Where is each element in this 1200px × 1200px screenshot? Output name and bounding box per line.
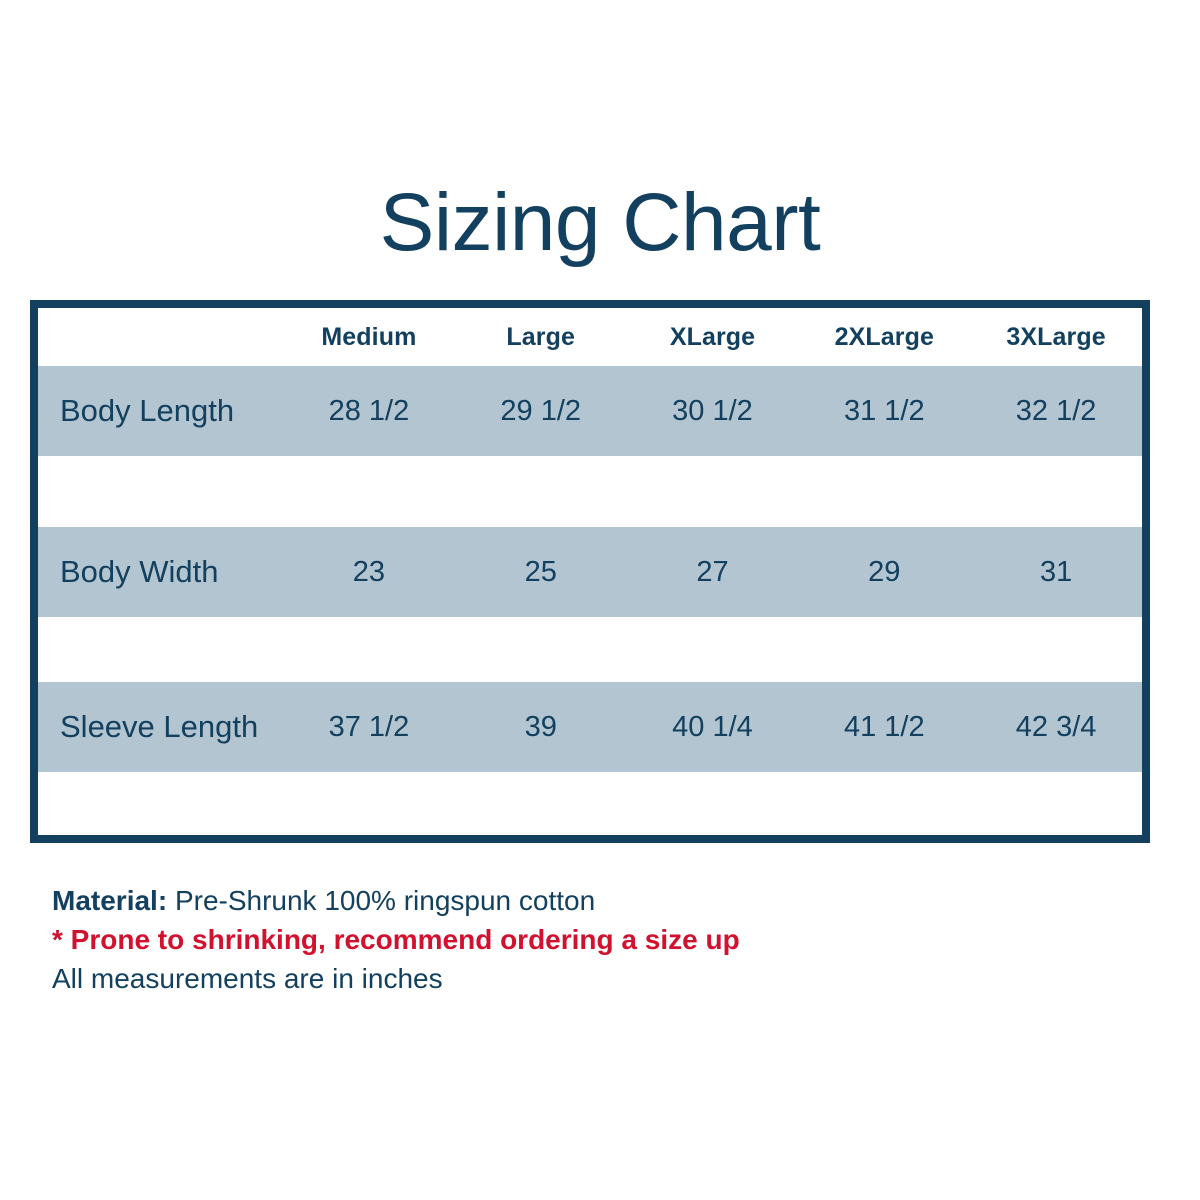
cell-body-length-2xlarge: 31 1/2 [798,395,970,428]
cell-body-length-xlarge: 30 1/2 [627,395,799,428]
note-shrink-warning: * Prone to shrinking, recommend ordering… [52,920,1052,960]
note-material-value: Pre-Shrunk 100% ringspun cotton [175,885,595,916]
column-header-xlarge: XLarge [627,323,799,352]
cell-body-width-large: 25 [455,556,627,589]
cell-body-width-medium: 23 [283,556,455,589]
table-row: Body Length 28 1/2 29 1/2 30 1/2 31 1/2 … [38,366,1142,456]
column-header-3xlarge: 3XLarge [970,323,1142,352]
cell-body-width-3xlarge: 31 [970,556,1142,589]
cell-sleeve-length-2xlarge: 41 1/2 [798,711,970,744]
cell-body-width-2xlarge: 29 [798,556,970,589]
cell-body-length-medium: 28 1/2 [283,395,455,428]
cell-body-width-xlarge: 27 [627,556,799,589]
footer-notes: Material: Pre-Shrunk 100% ringspun cotto… [52,882,1052,998]
table-row: Sleeve Length 37 1/2 39 40 1/4 41 1/2 42… [38,682,1142,772]
note-material: Material: Pre-Shrunk 100% ringspun cotto… [52,882,1052,920]
note-units: All measurements are in inches [52,960,1052,998]
column-header-2xlarge: 2XLarge [798,323,970,352]
table-header-row: Medium Large XLarge 2XLarge 3XLarge [38,308,1142,366]
sizing-table: Medium Large XLarge 2XLarge 3XLarge Body… [30,300,1150,843]
row-label-sleeve-length: Sleeve Length [38,709,283,745]
cell-sleeve-length-3xlarge: 42 3/4 [970,711,1142,744]
cell-body-length-3xlarge: 32 1/2 [970,395,1142,428]
row-label-body-length: Body Length [38,393,283,429]
cell-body-length-large: 29 1/2 [455,395,627,428]
page-title: Sizing Chart [0,182,1200,264]
cell-sleeve-length-medium: 37 1/2 [283,711,455,744]
note-material-label: Material: [52,885,167,916]
cell-sleeve-length-xlarge: 40 1/4 [627,711,799,744]
cell-sleeve-length-large: 39 [455,711,627,744]
column-header-large: Large [455,323,627,352]
table-row: Body Width 23 25 27 29 31 [38,527,1142,617]
column-header-medium: Medium [283,323,455,352]
sizing-table-body: Medium Large XLarge 2XLarge 3XLarge Body… [38,308,1142,835]
sizing-chart-page: Sizing Chart Medium Large XLarge 2XLarge… [0,0,1200,1200]
row-label-body-width: Body Width [38,554,283,590]
